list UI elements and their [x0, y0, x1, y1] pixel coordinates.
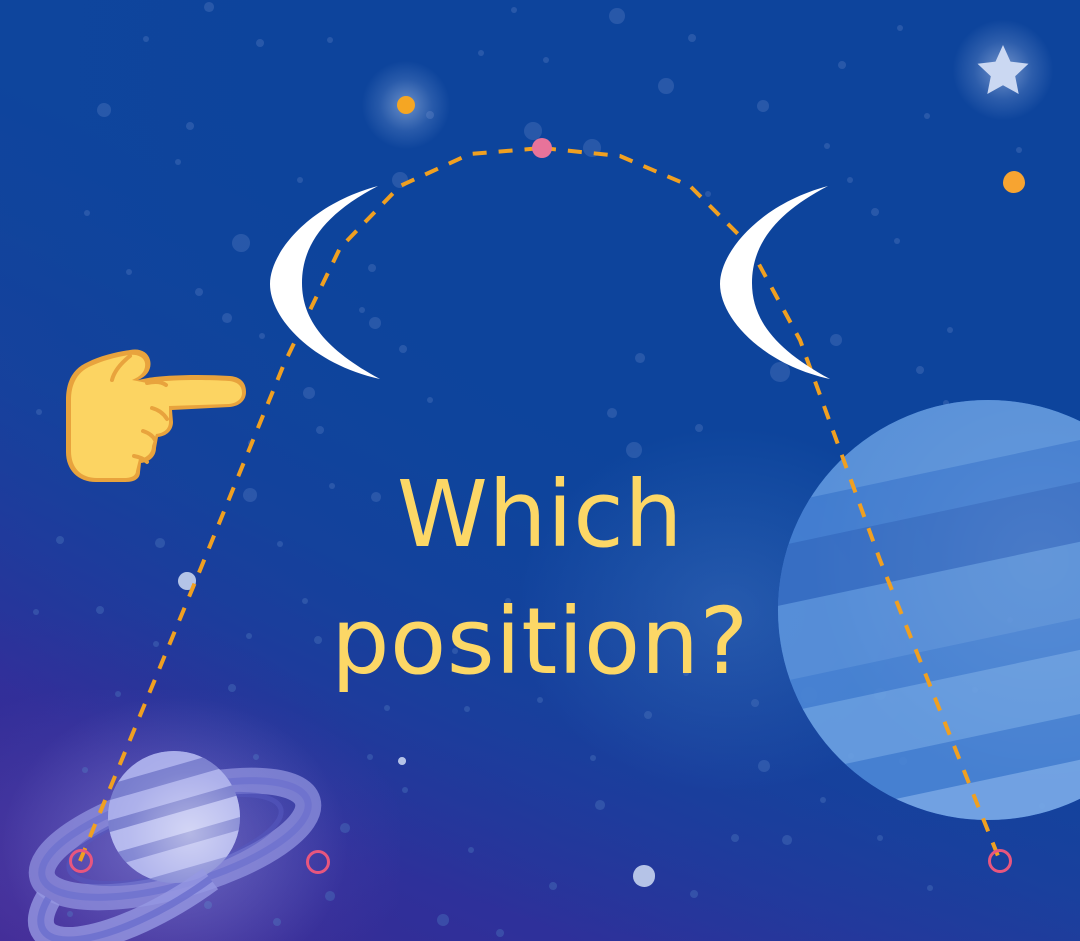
crescent-moon-left [258, 182, 408, 382]
backhand-index-pointing-right-icon[interactable] [52, 330, 248, 482]
star-speck [427, 397, 433, 403]
star-speck [894, 238, 900, 244]
star-speck [222, 313, 232, 323]
star-speck [690, 890, 698, 898]
star-speck [496, 929, 504, 937]
star-speck [658, 78, 674, 94]
star-speck [303, 387, 315, 399]
star-speck [478, 50, 484, 56]
star-speck [316, 426, 324, 434]
star-speck [590, 755, 596, 761]
star-speck [947, 327, 953, 333]
star-speck [782, 835, 792, 845]
star-speck [204, 2, 214, 12]
ringed-planet-saturn [30, 735, 320, 935]
star-speck [927, 885, 933, 891]
star-speck [609, 8, 625, 24]
star-speck [511, 7, 517, 13]
star-speck [877, 835, 883, 841]
star-speck [695, 424, 703, 432]
star-speck [871, 208, 879, 216]
star-speck [633, 865, 655, 887]
marker-left[interactable] [69, 849, 93, 873]
marker-right[interactable] [988, 849, 1012, 873]
star-speck [1016, 147, 1022, 153]
star-speck [897, 25, 903, 31]
star-speck [402, 787, 408, 793]
star-speck [635, 353, 645, 363]
illustration-canvas: Which position? [0, 0, 1080, 941]
star-speck [916, 366, 924, 374]
star-speck [36, 409, 42, 415]
star-speck [731, 834, 739, 842]
star-speck [437, 914, 449, 926]
star-speck [757, 100, 769, 112]
star-speck [607, 408, 617, 418]
star-speck [195, 288, 203, 296]
star-speck [824, 143, 830, 149]
star-speck [256, 39, 264, 47]
star-speck [464, 706, 470, 712]
saturn-ring-front [30, 735, 320, 935]
star-speck [143, 36, 149, 42]
star-speck [175, 159, 181, 165]
star-speck [838, 61, 846, 69]
star-speck [583, 139, 601, 157]
page-title: Which position? [0, 452, 1080, 706]
star-speck [398, 757, 406, 765]
star-speck [248, 440, 254, 446]
star-speck [688, 34, 696, 42]
star-speck [468, 847, 474, 853]
star-speck [758, 760, 770, 772]
star-speck [367, 754, 373, 760]
star-speck [327, 37, 333, 43]
star-speck [549, 882, 557, 890]
star-speck [595, 800, 605, 810]
marker-middle[interactable] [306, 850, 330, 874]
star-speck [644, 711, 652, 719]
star-speck [543, 57, 549, 63]
star-speck [232, 234, 250, 252]
star-speck [84, 210, 90, 216]
star-speck [186, 122, 194, 130]
star-speck [126, 269, 132, 275]
star-speck [924, 113, 930, 119]
star-speck [97, 103, 111, 117]
crescent-moon-right [708, 182, 858, 382]
